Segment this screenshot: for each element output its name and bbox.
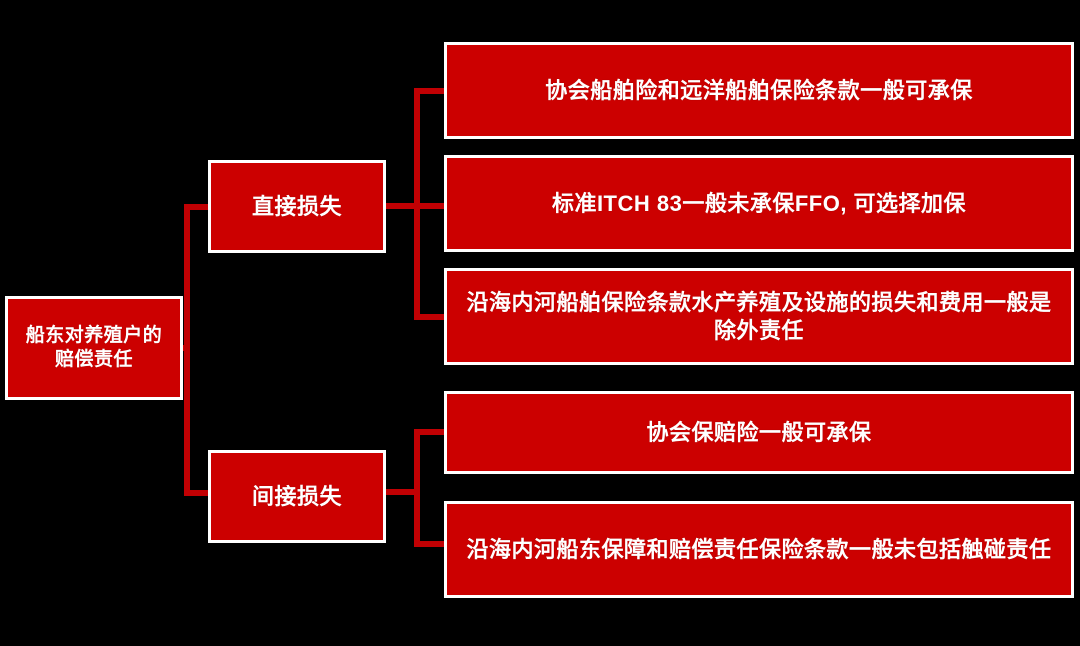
node-leaf-5[interactable]: 沿海内河船东保障和赔偿责任保险条款一般未包括触碰责任 — [444, 501, 1074, 598]
node-leaf-5-label: 沿海内河船东保障和赔偿责任保险条款一般未包括触碰责任 — [457, 536, 1061, 564]
node-indirect-loss-label: 间接损失 — [221, 483, 373, 511]
node-root-label: 船东对养殖户的赔偿责任 — [18, 324, 170, 372]
connector-root-to-indirect — [184, 490, 210, 496]
node-direct-loss-label: 直接损失 — [221, 193, 373, 221]
connector-indirect-bracket-vertical — [414, 429, 420, 547]
node-direct-loss[interactable]: 直接损失 — [208, 160, 386, 253]
connector-root-to-direct — [184, 204, 210, 210]
connector-root-bracket-vertical — [184, 204, 190, 496]
node-leaf-3[interactable]: 沿海内河船舶保险条款水产养殖及设施的损失和费用一般是除外责任 — [444, 268, 1074, 365]
node-indirect-loss[interactable]: 间接损失 — [208, 450, 386, 543]
node-leaf-4-label: 协会保赔险一般可承保 — [457, 419, 1061, 447]
node-leaf-2[interactable]: 标准ITCH 83一般未承保FFO, 可选择加保 — [444, 155, 1074, 252]
node-leaf-3-label: 沿海内河船舶保险条款水产养殖及设施的损失和费用一般是除外责任 — [457, 289, 1061, 344]
node-leaf-2-label: 标准ITCH 83一般未承保FFO, 可选择加保 — [457, 190, 1061, 218]
node-leaf-1-label: 协会船舶险和远洋船舶保险条款一般可承保 — [457, 77, 1061, 105]
diagram-canvas: 船东对养殖户的赔偿责任 直接损失 间接损失 协会船舶险和远洋船舶保险条款一般可承… — [0, 0, 1080, 646]
node-leaf-4[interactable]: 协会保赔险一般可承保 — [444, 391, 1074, 474]
node-root[interactable]: 船东对养殖户的赔偿责任 — [5, 296, 183, 400]
node-leaf-1[interactable]: 协会船舶险和远洋船舶保险条款一般可承保 — [444, 42, 1074, 139]
